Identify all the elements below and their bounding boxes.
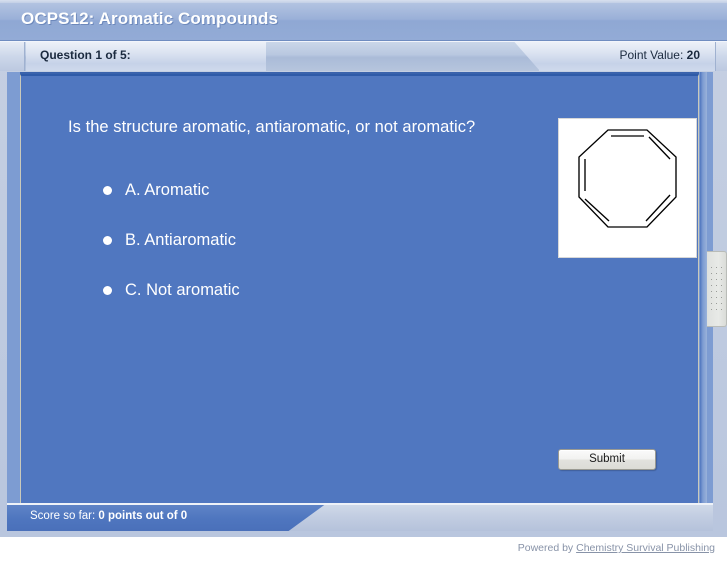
score-bar: Score so far: 0 points out of 0 [7,503,713,531]
grip-dot [711,309,712,310]
submit-button[interactable]: Submit [558,449,656,470]
grip-dot [721,291,722,292]
footer: Powered by Chemistry Survival Publishing [0,537,727,561]
grip-dot [711,303,712,304]
question-counter: Question 1 of 5: [40,48,131,62]
answer-choice-a[interactable]: A. Aromatic [103,181,523,231]
header-diagonal-right [480,41,540,71]
score-status: Score so far: 0 points out of 0 [30,510,187,522]
header-right-cap [715,41,727,71]
grip-dot [721,273,722,274]
grip-dots-icon [711,267,722,312]
grip-dot [711,291,712,292]
attribution: Powered by Chemistry Survival Publishing [518,542,715,554]
question-header-bar: Question 1 of 5: Point Value: 20 [0,41,727,71]
grip-dot [721,309,722,310]
publisher-link[interactable]: Chemistry Survival Publishing [576,542,715,554]
header-sheen [0,41,727,42]
grip-dot [716,273,717,274]
answer-choice-list: A. Aromatic B. Antiaromatic C. Not aroma… [103,181,523,331]
header-left-cap [0,41,25,71]
grip-dot [711,297,712,298]
page-title: OCPS12: Aromatic Compounds [21,9,278,29]
title-bar: OCPS12: Aromatic Compounds [0,0,727,41]
cyclooctatetraene-diagram [559,119,696,257]
grip-dot [711,279,712,280]
point-value-label: Point Value: [619,48,686,62]
answer-choice-label: C. Not aromatic [125,281,240,300]
side-rail [700,72,707,531]
grip-dot [716,309,717,310]
panel-drag-handle[interactable] [707,251,727,327]
score-value: 0 points out of 0 [98,510,187,522]
powered-by-label: Powered by [518,542,576,554]
grip-dot [711,267,712,268]
content-panel: Is the structure aromatic, antiaromatic,… [20,74,699,529]
quiz-application: OCPS12: Aromatic Compounds Question 1 of… [0,0,727,561]
structure-image [558,118,697,258]
grip-dot [721,267,722,268]
grip-dot [711,285,712,286]
content-stage: Is the structure aromatic, antiaromatic,… [7,72,713,531]
point-value-number: 20 [687,48,700,62]
grip-dot [716,267,717,268]
radio-bullet-icon[interactable] [103,236,112,245]
grip-dot [716,285,717,286]
grip-dot [721,297,722,298]
grip-dot [716,291,717,292]
grip-dot [711,273,712,274]
radio-bullet-icon[interactable] [103,286,112,295]
score-prefix: Score so far: [30,510,98,522]
question-prompt: Is the structure aromatic, antiaromatic,… [68,116,488,139]
answer-choice-label: A. Aromatic [125,181,209,200]
point-value: Point Value: 20 [619,48,700,62]
app-window: OCPS12: Aromatic Compounds Question 1 of… [0,0,727,537]
score-bar-top-line [7,503,713,505]
grip-dot [721,285,722,286]
radio-bullet-icon[interactable] [103,186,112,195]
answer-choice-b[interactable]: B. Antiaromatic [103,231,523,281]
grip-dot [716,297,717,298]
grip-dot [721,279,722,280]
answer-choice-label: B. Antiaromatic [125,231,236,250]
grip-dot [716,303,717,304]
grip-dot [721,303,722,304]
answer-choice-c[interactable]: C. Not aromatic [103,281,523,331]
grip-dot [716,279,717,280]
